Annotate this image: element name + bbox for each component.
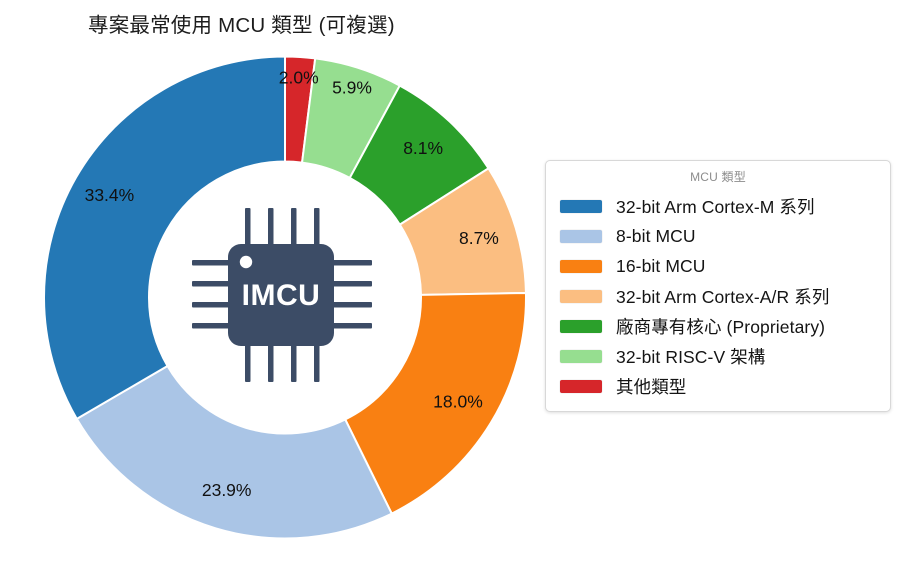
legend-swatch — [560, 260, 602, 273]
legend-swatch — [560, 230, 602, 243]
legend-swatch — [560, 350, 602, 363]
legend-item-label: 32-bit Arm Cortex-M 系列 — [616, 194, 815, 219]
legend-item[interactable]: 其他類型 — [556, 371, 880, 401]
legend-swatch — [560, 320, 602, 333]
donut-slice-label: 33.4% — [85, 185, 135, 205]
legend-swatch — [560, 200, 602, 213]
legend-item[interactable]: 16-bit MCU — [556, 251, 880, 281]
legend-items: 32-bit Arm Cortex-M 系列8-bit MCU16-bit MC… — [556, 191, 880, 401]
donut-slice-label: 18.0% — [433, 391, 483, 411]
legend-item-label: 8-bit MCU — [616, 226, 696, 247]
donut-slice-group — [44, 57, 526, 539]
donut-slice-label: 2.0% — [279, 68, 319, 88]
page-title: 專案最常使用 MCU 類型 (可複選) — [88, 8, 395, 38]
legend-swatch — [560, 290, 602, 303]
legend-item-label: 其他類型 — [616, 374, 686, 399]
donut-chart: 2.0%5.9%8.1%8.7%18.0%23.9%33.4% — [40, 50, 530, 545]
legend-item[interactable]: 32-bit RISC-V 架構 — [556, 341, 880, 371]
legend: MCU 類型 32-bit Arm Cortex-M 系列8-bit MCU16… — [545, 160, 891, 412]
donut-slice-label: 8.7% — [459, 228, 499, 248]
legend-item[interactable]: 8-bit MCU — [556, 221, 880, 251]
donut-slice-label: 23.9% — [202, 480, 252, 500]
legend-item-label: 廠商專有核心 (Proprietary) — [616, 314, 825, 339]
legend-title: MCU 類型 — [556, 168, 880, 185]
donut-svg: 2.0%5.9%8.1%8.7%18.0%23.9%33.4% — [40, 50, 530, 545]
legend-item[interactable]: 廠商專有核心 (Proprietary) — [556, 311, 880, 341]
legend-item[interactable]: 32-bit Arm Cortex-A/R 系列 — [556, 281, 880, 311]
legend-swatch — [560, 380, 602, 393]
legend-item[interactable]: 32-bit Arm Cortex-M 系列 — [556, 191, 880, 221]
donut-slice-label: 5.9% — [332, 78, 372, 98]
donut-slice-label: 8.1% — [403, 138, 443, 158]
donut-slice[interactable] — [44, 57, 285, 419]
legend-item-label: 32-bit Arm Cortex-A/R 系列 — [616, 284, 829, 309]
legend-item-label: 32-bit RISC-V 架構 — [616, 344, 765, 369]
legend-item-label: 16-bit MCU — [616, 256, 706, 277]
